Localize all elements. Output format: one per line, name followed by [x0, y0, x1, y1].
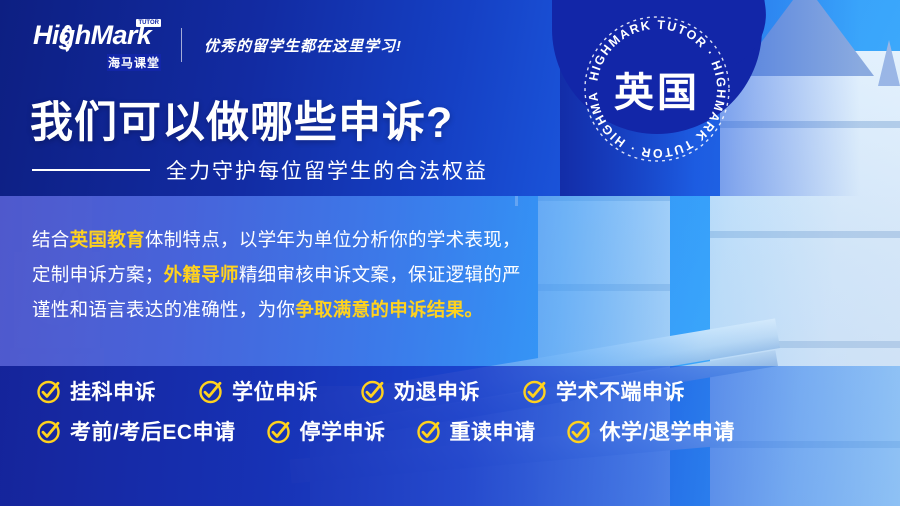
service-tag-label: 学位申诉 [232, 376, 318, 406]
badge-country-label: 英国 [576, 8, 738, 170]
subtitle-rule [32, 169, 150, 171]
page-subtitle: 全力守护每位留学生的合法权益 [166, 155, 488, 185]
promo-banner: HIGHMARK TUTOR · HIGHMARK TUTOR · HIGHMA… [0, 0, 900, 506]
service-tag-row-1: 挂科申诉 学位申诉 劝退申诉 学术不端申诉 [36, 376, 876, 406]
body-line-2-a: 定制申诉方案； [32, 264, 164, 285]
circle-check-icon [266, 419, 291, 444]
seahorse-icon [59, 23, 72, 53]
body-line-2-b: 精细审核申诉文案，保证逻辑的严 [239, 264, 521, 285]
service-tag-row-2: 考前/考后EC申请 停学申诉 重读申请 休学/退学申请 [36, 416, 876, 446]
circle-check-icon [522, 379, 547, 404]
service-tag[interactable]: 挂科申诉 [36, 376, 156, 406]
body-paragraph: 结合英国教育体制特点，以学年为单位分析你的学术表现， 定制申诉方案；外籍导师精细… [32, 222, 592, 327]
country-badge: HIGHMARK TUTOR · HIGHMARK TUTOR · HIGHMA… [576, 8, 738, 170]
page-title: 我们可以做哪些申诉? [30, 88, 453, 150]
body-line-1-a: 结合 [32, 229, 70, 250]
service-tag[interactable]: 重读申请 [416, 416, 536, 446]
service-tag[interactable]: 学位申诉 [198, 376, 318, 406]
service-tag-label: 重读申请 [450, 416, 536, 446]
circle-check-icon [360, 379, 385, 404]
service-tag-label: 休学/退学申请 [600, 416, 735, 446]
logo-tm-mark: TUTOR [136, 19, 161, 27]
service-tag[interactable]: 劝退申诉 [360, 376, 480, 406]
service-tag-label: 挂科申诉 [70, 376, 156, 406]
brand-tagline: 优秀的留学生都在这里学习! [204, 35, 402, 56]
body-line-2: 定制申诉方案；外籍导师精细审核申诉文案，保证逻辑的严 [32, 257, 592, 292]
subtitle-row: 全力守护每位留学生的合法权益 [32, 155, 488, 185]
brand-logo-row: HighMark TUTOR 海马课堂 优秀的留学生都在这里学习! [33, 22, 402, 68]
body-line-1-b: 体制特点，以学年为单位分析你的学术表现， [145, 229, 521, 250]
body-line-3-highlight: 争取满意的申诉结果。 [295, 299, 483, 320]
circle-check-icon [416, 419, 441, 444]
service-tag[interactable]: 学术不端申诉 [522, 376, 685, 406]
body-line-1-highlight: 英国教育 [70, 229, 145, 250]
service-tag-label: 学术不端申诉 [556, 376, 685, 406]
circle-check-icon [36, 419, 61, 444]
body-line-3: 谨性和语言表达的准确性，为你争取满意的申诉结果。 [32, 292, 592, 327]
circle-check-icon [566, 419, 591, 444]
service-tag-list: 挂科申诉 学位申诉 劝退申诉 学术不端申诉 [36, 376, 876, 456]
service-tag-label: 考前/考后EC申请 [70, 416, 236, 446]
circle-check-icon [36, 379, 61, 404]
logo-wordmark-text: HighMark [33, 20, 151, 50]
service-tag[interactable]: 休学/退学申请 [566, 416, 735, 446]
service-tag[interactable]: 考前/考后EC申请 [36, 416, 236, 446]
service-tag[interactable]: 停学申诉 [266, 416, 386, 446]
logo-chinese-name: 海马课堂 [107, 54, 161, 71]
logo-wordmark: HighMark TUTOR [33, 22, 159, 49]
logo-divider [181, 28, 182, 62]
body-line-1: 结合英国教育体制特点，以学年为单位分析你的学术表现， [32, 222, 592, 257]
body-line-3-a: 谨性和语言表达的准确性，为你 [32, 299, 295, 320]
service-tag-label: 停学申诉 [300, 416, 386, 446]
body-line-2-highlight: 外籍导师 [164, 264, 239, 285]
service-tag-label: 劝退申诉 [394, 376, 480, 406]
circle-check-icon [198, 379, 223, 404]
highmark-logo[interactable]: HighMark TUTOR 海马课堂 [33, 22, 159, 68]
